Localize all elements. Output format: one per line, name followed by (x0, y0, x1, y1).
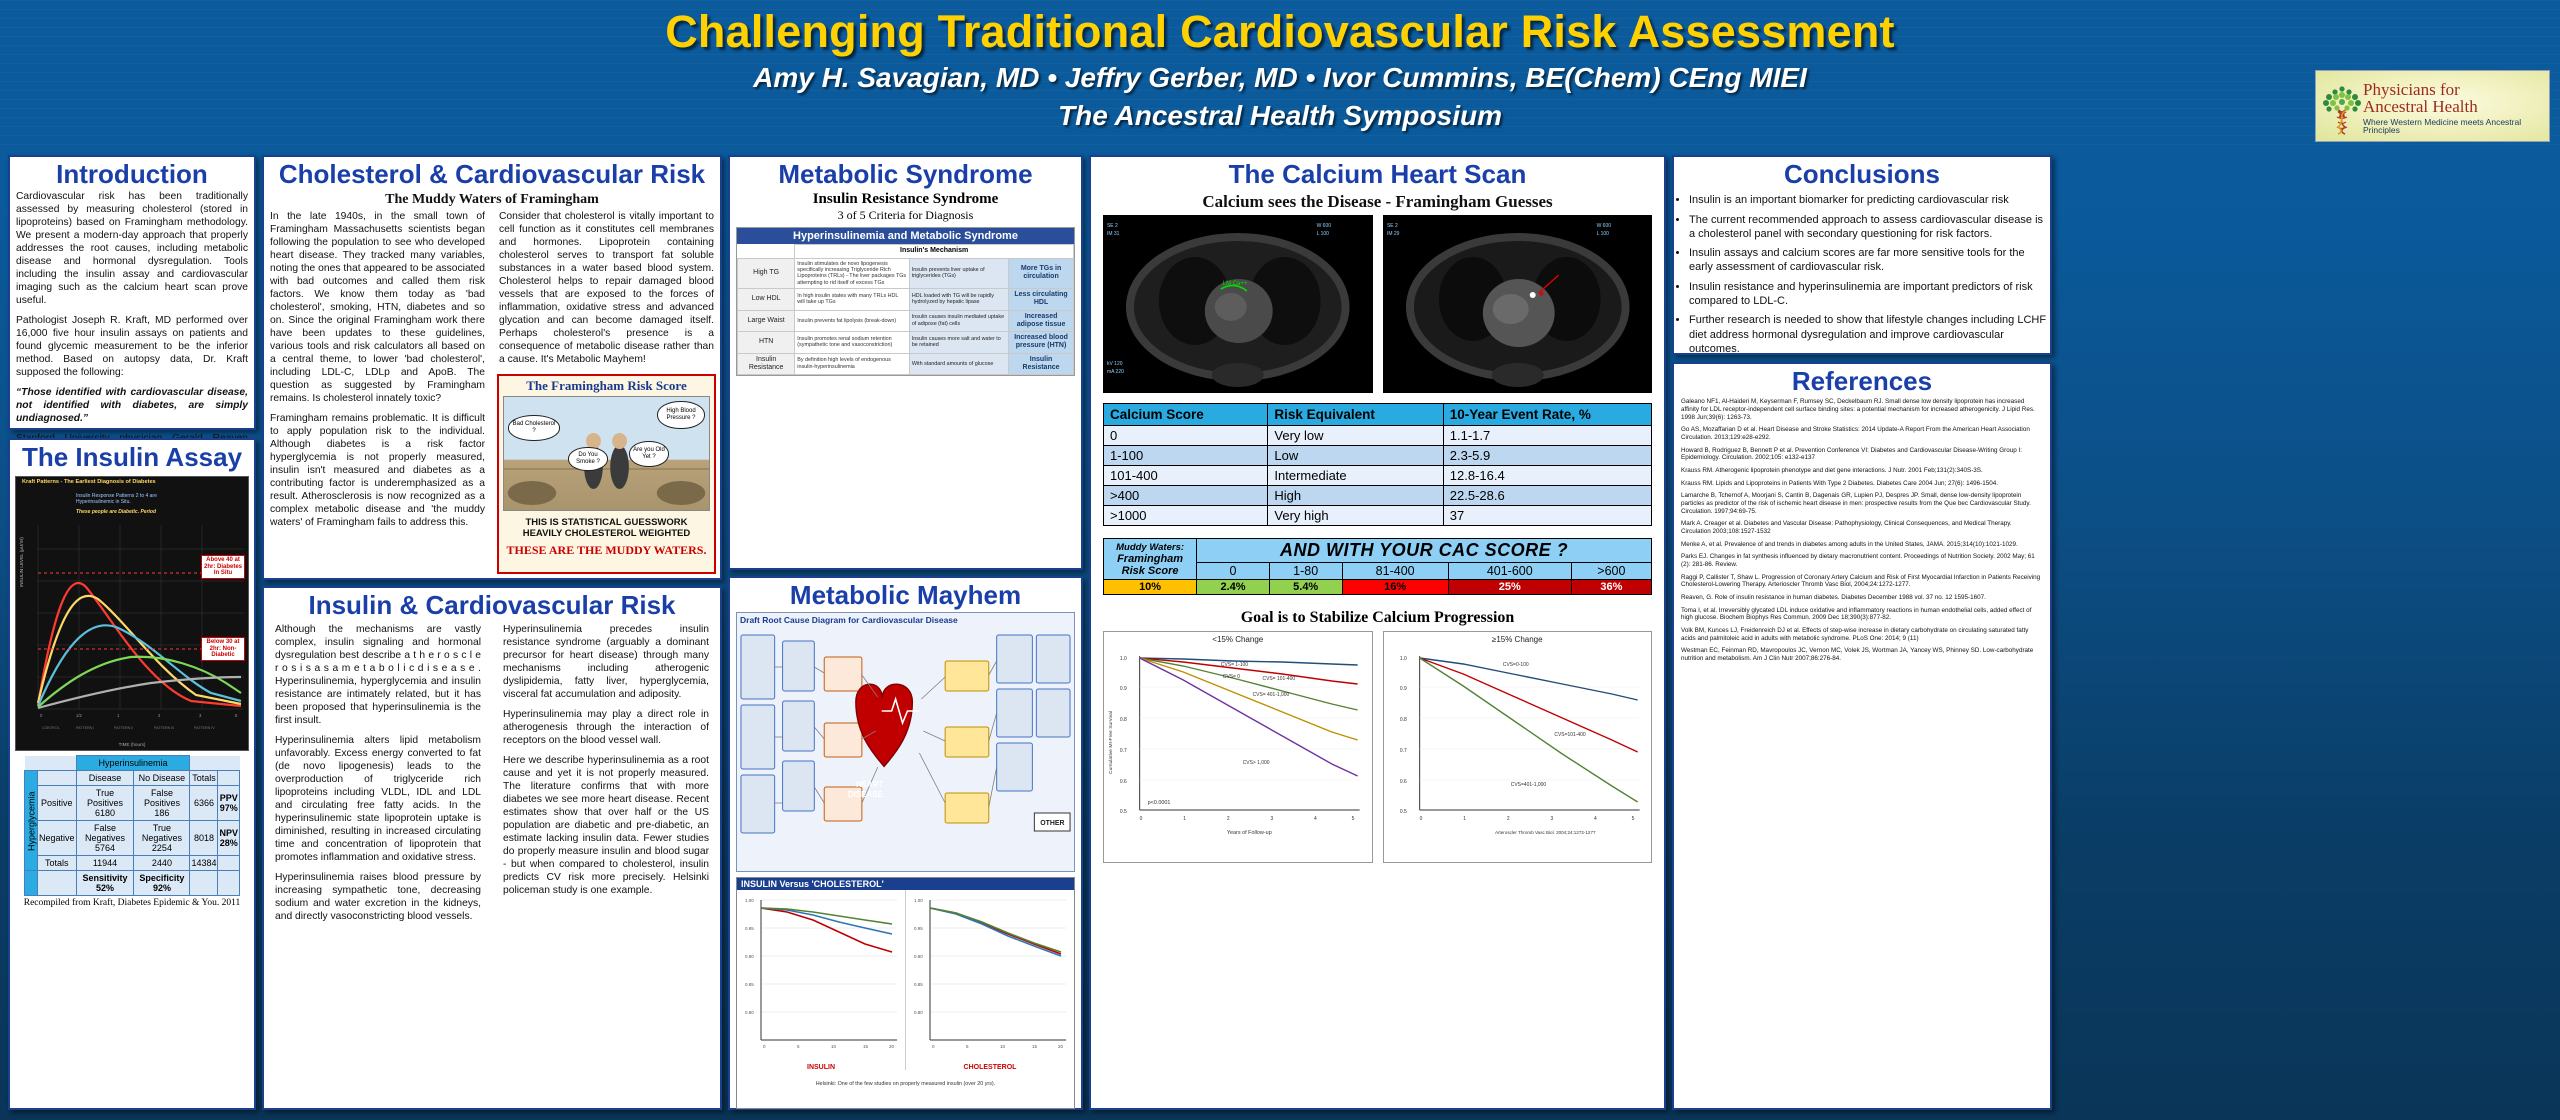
kraft-patterns-chart: Kraft Patterns - The Earliest Diagnosis … (15, 476, 249, 751)
root-cause-svg: OTHER HEART DISEASE (737, 627, 1074, 865)
svg-text:0: 0 (40, 713, 43, 718)
root-cause-caption: Draft Root Cause Diagram for Cardiovascu… (737, 613, 1074, 627)
total-negative: 8018 (190, 821, 218, 856)
svg-text:CVS= 101-400: CVS= 101-400 (1263, 676, 1296, 682)
ppv-label: PPV (220, 793, 238, 803)
svg-text:3: 3 (1550, 816, 1553, 822)
svg-text:15: 15 (1032, 1044, 1038, 1049)
row-mech-high-tg: Insulin stimulates de novo lipogenesis s… (795, 258, 910, 289)
total-disease: 11944 (76, 856, 134, 871)
table-row: >400High22.5-28.6 (1104, 486, 1652, 506)
list-item: Reaven, G. Role of insulin resistance in… (1681, 594, 2043, 602)
ct-scan-left: LM Ca++ SE 2IM 31 kV 120mA 220 W 600L 10… (1103, 215, 1373, 393)
svg-text:0.7: 0.7 (1399, 748, 1406, 754)
svg-text:CVS=0-100: CVS=0-100 (1502, 662, 1528, 668)
kraft-xlabel: TIME (hours) (119, 742, 146, 747)
intro-kraft-quote: “Those identified with cardiovascular di… (16, 387, 248, 426)
logo-line-1: Physicians for (2363, 81, 2544, 98)
svg-text:W 600: W 600 (1596, 223, 1611, 229)
list-item: Menke A, et al. Prevalence of and trends… (1681, 541, 2043, 549)
row-out-high-tg: More TGs in circulation (1009, 258, 1074, 289)
svg-text:OTHER: OTHER (1040, 820, 1064, 827)
svg-text:2: 2 (1227, 816, 1230, 822)
organization-logo: Physicians for Ancestral Health Where We… (2315, 70, 2550, 142)
calcium-subheading: Calcium sees the Disease - Framingham Gu… (1091, 191, 1664, 215)
row-label-insulin-resistance: Insulin Resistance (738, 353, 795, 375)
cac-band-2: 81-400 (1342, 563, 1448, 580)
svg-text:W 600: W 600 (1317, 223, 1332, 229)
chol-p3: Consider that cholesterol is vitally imp… (499, 211, 714, 367)
km-chart-right: ≥15% Change 1.00.90.8 0.70. (1383, 631, 1653, 863)
poster-board: Introduction Cardiovascular risk has bee… (0, 150, 2560, 1120)
cs-r0-c2: 1.1-1.7 (1443, 426, 1651, 446)
svg-text:CONTROL: CONTROL (42, 726, 60, 730)
insulin-assay-heading: The Insulin Assay (10, 440, 254, 474)
cs-r2-c1: Intermediate (1268, 466, 1443, 486)
svg-text:0.85: 0.85 (914, 982, 923, 987)
cholesterol-heading: Cholesterol & Cardiovascular Risk (264, 157, 720, 191)
row-label-large-waist: Large Waist (738, 310, 795, 332)
fn-label: False Negatives (85, 823, 125, 843)
th-totals: Totals (190, 771, 218, 786)
hyperinsulinemia-diagram: Hyperinsulinemia and Metabolic Syndrome … (736, 227, 1075, 376)
svg-text:10: 10 (831, 1044, 837, 1049)
cloud-high-blood-pressure: High Blood Pressure ? (657, 401, 705, 429)
insulincv-p3: Hyperinsulinemia raises blood pressure b… (275, 872, 481, 924)
svg-text:5: 5 (966, 1044, 969, 1049)
cac-rate-2: 16% (1342, 580, 1448, 595)
list-item: Raggi P, Callister T, Shaw L. Progressio… (1681, 574, 2043, 589)
references-heading: References (1674, 364, 2050, 398)
svg-text:0.8: 0.8 (1120, 717, 1127, 723)
row-group-header: Hyperglycemia (25, 771, 38, 871)
svg-text:0: 0 (932, 1044, 935, 1049)
table-row: Large Waist Insulin prevents fat lipolys… (738, 310, 1074, 332)
svg-text:Cumulative MI-Free Survival: Cumulative MI-Free Survival (1108, 711, 1114, 774)
svg-text:kV 120: kV 120 (1107, 361, 1123, 367)
intro-p2: Pathologist Joseph R. Kraft, MD performe… (16, 315, 248, 380)
svg-text:IM 29: IM 29 (1386, 231, 1399, 237)
logo-line-2: Ancestral Health (2363, 98, 2544, 115)
svg-text:0.95: 0.95 (914, 926, 923, 931)
insulin-assay-caption: Recompiled from Kraft, Diabetes Epidemic… (10, 896, 254, 910)
svg-text:0.5: 0.5 (1399, 809, 1406, 815)
svg-text:2: 2 (1506, 816, 1509, 822)
cac-rate-0: 2.4% (1197, 580, 1270, 595)
table-row: Positive True Positives6180 False Positi… (25, 786, 240, 821)
calcium-score-table-wrap: Calcium Score Risk Equivalent 10-Year Ev… (1091, 393, 1664, 526)
tp-value: 6180 (95, 808, 115, 818)
svg-text:20: 20 (889, 1044, 895, 1049)
row-mech-large-waist: Insulin prevents fat lipolysis (break-do… (795, 310, 910, 332)
svg-text:IM 31: IM 31 (1107, 231, 1120, 237)
row-mid-low-hdl: HDL loaded with TG will be rapidly hydro… (909, 289, 1008, 311)
row-label-htn: HTN (738, 332, 795, 354)
list-item: Lamarche B, Tchernof A, Moorjani S, Cant… (1681, 492, 2043, 515)
panel-metabolic-syndrome: Metabolic Syndrome Insulin Resistance Sy… (728, 155, 1083, 570)
svg-text:CVS= 1-100: CVS= 1-100 (1221, 662, 1248, 668)
sensitivity-value: 52% (96, 883, 114, 893)
cac-rate-3: 25% (1448, 580, 1571, 595)
svg-text:SE 2: SE 2 (1386, 223, 1397, 229)
row-mid-high-tg: Insulin prevents liver uptake of triglyc… (909, 258, 1008, 289)
row-out-low-hdl: Less circulating HDL (1009, 289, 1074, 311)
svg-text:3: 3 (199, 713, 202, 718)
row-mech-htn: Insulin promotes renal sodium retention … (795, 332, 910, 354)
row-mech-insulin-resistance: By definition high levels of endogenous … (795, 353, 910, 375)
ivc-chart-title: INSULIN Versus 'CHOLESTEROL' (737, 878, 1074, 890)
metabolic-mayhem-heading: Metabolic Mayhem (730, 578, 1081, 612)
svg-text:0: 0 (1419, 816, 1422, 822)
svg-text:PATTERN IV: PATTERN IV (194, 726, 215, 730)
col-group-header: Hyperinsulinemia (76, 756, 190, 771)
kraft-badge-nondiabetic: Below 30 at 2hr: Non-Diabetic (201, 637, 245, 661)
list-item: Insulin assays and calcium scores are fa… (1689, 246, 2050, 275)
svg-text:0.90: 0.90 (914, 954, 923, 959)
intro-p1: Cardiovascular risk has been traditional… (16, 191, 248, 308)
svg-text:1: 1 (1183, 816, 1186, 822)
cs-r1-c1: Low (1268, 446, 1443, 466)
ppv-value: 97% (220, 803, 238, 813)
table-row: 0Very low1.1-1.7 (1104, 426, 1652, 446)
svg-text:mA 220: mA 220 (1107, 369, 1124, 375)
calcium-heading: The Calcium Heart Scan (1091, 157, 1664, 191)
svg-text:2: 2 (158, 713, 161, 718)
cloud-smoking: Do You Smoke ? (568, 447, 608, 471)
km-chart-left: <15% Change 1.0 (1103, 631, 1373, 863)
svg-text:1/2: 1/2 (76, 713, 82, 718)
table-row: HTN Insulin promotes renal sodium retent… (738, 332, 1074, 354)
list-item: Krauss RM. Lipids and Lipoproteins in Pa… (1681, 480, 2043, 488)
tn-label: True Negatives (142, 823, 182, 843)
npv-value: 28% (220, 838, 238, 848)
cac-band-0: 0 (1197, 563, 1270, 580)
svg-text:0.9: 0.9 (1399, 686, 1406, 692)
table-row: 1-100Low2.3-5.9 (1104, 446, 1652, 466)
svg-text:5: 5 (797, 1044, 800, 1049)
insulincv-p2: Hyperinsulinemia alters lipid metabolism… (275, 735, 481, 865)
table-row: Low HDL In high insulin states with many… (738, 289, 1074, 311)
cac-score-table-wrap: Muddy Waters: Framingham Risk Score AND … (1091, 526, 1664, 595)
cs-r3-c2: 22.5-28.6 (1443, 486, 1651, 506)
svg-text:Arteroscler Thromb Vasc Biol.: Arteroscler Thromb Vasc Biol. 2004;24:12… (1494, 830, 1595, 835)
list-item: Volk BM, Kunces LJ, Freidenreich DJ et a… (1681, 627, 2043, 642)
table-row: Totals 11944 2440 14384 (25, 856, 240, 871)
list-item: Mark A. Creager et al. Diabetes and Vasc… (1681, 520, 2043, 535)
svg-text:HEART: HEART (856, 780, 883, 789)
cac-frs-value: 10% (1104, 580, 1197, 595)
table-row: Negative False Negatives5764 True Negati… (25, 821, 240, 856)
metabolic-syndrome-criteria: 3 of 5 Criteria for Diagnosis (730, 208, 1081, 223)
svg-text:1: 1 (1463, 816, 1466, 822)
svg-text:1.00: 1.00 (914, 898, 923, 903)
svg-text:CVS=101-400: CVS=101-400 (1554, 732, 1585, 738)
row-out-insulin-resistance: Insulin Resistance (1009, 353, 1074, 375)
svg-text:1.0: 1.0 (1399, 656, 1406, 662)
svg-text:1.0: 1.0 (1120, 656, 1127, 662)
framingham-risk-score-figure: The Framingham Risk Score (497, 374, 716, 574)
chol-p2: Framingham remains problematic. It is di… (270, 413, 485, 530)
svg-text:0.80: 0.80 (745, 1010, 754, 1015)
list-item: Insulin resistance and hyperinsulinemia … (1689, 280, 2050, 309)
svg-text:0.90: 0.90 (745, 954, 754, 959)
svg-text:0.85: 0.85 (745, 982, 754, 987)
diagram-title: Hyperinsulinemia and Metabolic Syndrome (737, 228, 1074, 244)
svg-text:PATTERN III: PATTERN III (154, 726, 174, 730)
cac-band-1: 1-80 (1269, 563, 1342, 580)
panel-conclusions: Conclusions Insulin is an important biom… (1672, 155, 2052, 355)
cs-r0-c1: Very low (1268, 426, 1443, 446)
mechanism-header: Insulin's Mechanism (795, 245, 1074, 258)
cs-th-rate: 10-Year Event Rate, % (1443, 404, 1651, 426)
symposium-name: The Ancestral Health Symposium (0, 100, 2560, 132)
total-no-disease: 2440 (134, 856, 190, 871)
poster-header: Challenging Traditional Cardiovascular R… (0, 0, 2560, 150)
cholesterol-subheading: The Muddy Waters of Framingham (264, 191, 720, 211)
svg-text:3: 3 (1270, 816, 1273, 822)
table-row: 101-400Intermediate12.8-16.4 (1104, 466, 1652, 486)
svg-text:DISEASE: DISEASE (848, 790, 883, 799)
cs-r2-c2: 12.8-16.4 (1443, 466, 1651, 486)
conclusions-heading: Conclusions (1674, 157, 2050, 191)
svg-text:L 100: L 100 (1317, 231, 1330, 237)
svg-text:PATTERN II: PATTERN II (114, 726, 133, 730)
sensitivity-label: Sensitivity (82, 873, 127, 883)
specificity-label: Specificity (139, 873, 184, 883)
row-mid-large-waist: Insulin causes insulin mediated uptake o… (909, 310, 1008, 332)
svg-text:0.5: 0.5 (1120, 809, 1127, 815)
cholesterol-panel: 1.000.950.90 0.850.80 0510 1520 CHOLESTE… (906, 890, 1074, 1070)
table-row: Insulin Resistance By definition high le… (738, 353, 1074, 375)
row-out-htn: Increased blood pressure (HTN) (1009, 332, 1074, 354)
cac-title: AND WITH YOUR CAC SCORE ? (1197, 539, 1652, 563)
row-label-high-tg: High TG (738, 258, 795, 289)
panel-introduction: Introduction Cardiovascular risk has bee… (8, 155, 256, 430)
cs-r0-c0: 0 (1104, 426, 1268, 446)
panel-references: References Galeano NF1, Al-Haideri M, Ke… (1672, 362, 2052, 1110)
cs-r2-c0: 101-400 (1104, 466, 1268, 486)
cac-band-3: 401-600 (1448, 563, 1571, 580)
fp-value: 186 (154, 808, 169, 818)
page-title: Challenging Traditional Cardiovascular R… (0, 6, 2560, 58)
svg-text:0: 0 (763, 1044, 766, 1049)
insulin-panel-label: INSULIN (737, 1064, 905, 1071)
cloud-age: Are you Old Yet ? (629, 441, 669, 467)
cac-score-table: Muddy Waters: Framingham Risk Score AND … (1103, 538, 1652, 595)
row-mech-low-hdl: In high insulin states with many TRLs HD… (795, 289, 910, 311)
list-item: Toma I, et al. Irreversibly glycated LDL… (1681, 607, 2043, 622)
fn-value: 5764 (95, 843, 115, 853)
ivc-footnote: Helsinki: One of the few studies on prop… (737, 1070, 1074, 1087)
list-item: Krauss RM. Atherogenic lipoprotein pheno… (1681, 467, 2043, 475)
table-header-row: Calcium Score Risk Equivalent 10-Year Ev… (1104, 404, 1652, 426)
svg-text:1: 1 (117, 713, 120, 718)
cs-r4-c0: >1000 (1104, 506, 1268, 526)
cac-rate-4: 36% (1571, 580, 1651, 595)
cac-rate-1: 5.4% (1269, 580, 1342, 595)
svg-text:0.95: 0.95 (745, 926, 754, 931)
svg-text:10: 10 (1000, 1044, 1006, 1049)
list-item: Parks EJ. Changes in fat synthesis influ… (1681, 553, 2043, 568)
insulin-vs-cholesterol-chart: INSULIN Versus 'CHOLESTEROL' (736, 877, 1075, 1109)
references-list: Galeano NF1, Al-Haideri M, Keyserman F, … (1674, 398, 2050, 662)
row-out-large-waist: Increased adipose tissue (1009, 310, 1074, 332)
insulin-cv-heading: Insulin & Cardiovascular Risk (264, 588, 720, 622)
framingham-line-2: HEAVILY CHOLESTEROL WEIGHTED (499, 528, 714, 539)
svg-text:4: 4 (1594, 816, 1597, 822)
svg-text:5: 5 (235, 713, 238, 718)
insulin-panel: 1.000.950.90 0.850.80 0510 1520 INSULIN (737, 890, 906, 1070)
introduction-heading: Introduction (10, 157, 254, 191)
svg-text:0.6: 0.6 (1120, 779, 1127, 785)
tree-dna-icon (2321, 84, 2363, 132)
kraft-badge-diabetic: Above 40 at 2hr: Diabetes In Situ (201, 555, 245, 579)
grand-total: 14384 (190, 856, 218, 871)
svg-text:PATTERN I: PATTERN I (76, 726, 94, 730)
panel-insulin-assay: The Insulin Assay Kraft Patterns - The E… (8, 438, 256, 1110)
svg-text:20: 20 (1058, 1044, 1064, 1049)
list-item: Galeano NF1, Al-Haideri M, Keyserman F, … (1681, 398, 2043, 421)
insulincv-p1: Although the mechanisms are vastly compl… (275, 624, 481, 728)
svg-text:LM Ca++: LM Ca++ (1223, 281, 1248, 287)
cs-r1-c2: 2.3-5.9 (1443, 446, 1651, 466)
svg-text:1.00: 1.00 (745, 898, 754, 903)
svg-text:5: 5 (1631, 816, 1634, 822)
calcium-goal-text: Goal is to Stabilize Calcium Progression (1091, 595, 1664, 631)
svg-text:CVS> 1,000: CVS> 1,000 (1243, 760, 1270, 766)
cs-r3-c1: High (1268, 486, 1443, 506)
insulincv-p6: Here we describe hyperinsulinemia as a r… (503, 755, 709, 898)
svg-text:0.6: 0.6 (1399, 779, 1406, 785)
svg-text:0.7: 0.7 (1120, 748, 1127, 754)
specificity-value: 92% (153, 883, 171, 893)
row-mid-htn: Insulin causes more salt and water to be… (909, 332, 1008, 354)
cac-corner-label: Muddy Waters: Framingham Risk Score (1104, 539, 1197, 580)
svg-text:p<0.0001: p<0.0001 (1148, 800, 1171, 806)
row-mid-insulin-resistance: With standard amounts of glucose (909, 353, 1008, 375)
km-right-title: ≥15% Change (1384, 632, 1652, 644)
table-row: Muddy Waters: Framingham Risk Score AND … (1104, 539, 1652, 563)
table-row: High TG Insulin stimulates de novo lipog… (738, 258, 1074, 289)
svg-text:15: 15 (863, 1044, 869, 1049)
cs-r3-c0: >400 (1104, 486, 1268, 506)
svg-text:SE 2: SE 2 (1107, 223, 1118, 229)
list-item: Go AS, Mozaffarian D et al. Heart Diseas… (1681, 426, 2043, 441)
poster-root: Challenging Traditional Cardiovascular R… (0, 0, 2560, 1120)
author-list: Amy H. Savagian, MD • Jeffry Gerber, MD … (0, 62, 2560, 94)
framingham-line-3: THESE ARE THE MUDDY WATERS. (499, 543, 714, 558)
th-disease: Disease (76, 771, 134, 786)
framingham-line-1: THIS IS STATISTICAL GUESSWORK (499, 517, 714, 528)
svg-text:0.80: 0.80 (914, 1010, 923, 1015)
cs-r4-c1: Very high (1268, 506, 1443, 526)
list-item: Howard B, Rodriguez B, Bennett P et al. … (1681, 447, 2043, 462)
chol-p1: In the late 1940s, in the small town of … (270, 211, 485, 406)
insulin-2x2-table: Hyperinsulinemia Hyperglycemia Disease N… (24, 755, 240, 896)
cs-r1-c0: 1-100 (1104, 446, 1268, 466)
logo-tagline: Where Western Medicine meets Ancestral P… (2363, 118, 2544, 135)
cs-th-score: Calcium Score (1104, 404, 1268, 426)
svg-text:CVS= 0: CVS= 0 (1223, 674, 1240, 680)
table-row: 10% 2.4% 5.4% 16% 25% 36% (1104, 580, 1652, 595)
tp-label: True Positives (87, 788, 123, 808)
npv-label: NPV (219, 828, 238, 838)
row-label-low-hdl: Low HDL (738, 289, 795, 311)
framingham-figure-title: The Framingham Risk Score (499, 376, 714, 396)
metabolic-syndrome-heading: Metabolic Syndrome (730, 157, 1081, 191)
total-positive: 6366 (190, 786, 218, 821)
metabolic-syndrome-subheading: Insulin Resistance Syndrome (730, 191, 1081, 208)
list-item: Westman EC, Feinman RD, Mavropoulos JC, … (1681, 647, 2043, 662)
th-no-disease: No Disease (134, 771, 190, 786)
panel-metabolic-mayhem: Metabolic Mayhem Draft Root Cause Diagra… (728, 576, 1083, 1110)
svg-text:0.9: 0.9 (1120, 686, 1127, 692)
svg-text:CVS=401-1,000: CVS=401-1,000 (1510, 782, 1546, 788)
svg-text:Years of Follow-up: Years of Follow-up (1227, 830, 1272, 836)
list-item: Insulin is an important biomarker for pr… (1689, 193, 2050, 207)
svg-text:L 100: L 100 (1596, 231, 1609, 237)
panel-insulin-cv-risk: Insulin & Cardiovascular Risk Although t… (262, 586, 722, 1110)
cac-band-4: >600 (1571, 563, 1651, 580)
ct-scan-right: SE 2IM 29 W 600L 100 (1383, 215, 1653, 393)
insulincv-p5: Hyperinsulinemia may play a direct role … (503, 709, 709, 748)
panel-cholesterol: Cholesterol & Cardiovascular Risk The Mu… (262, 155, 722, 580)
calcium-score-table: Calcium Score Risk Equivalent 10-Year Ev… (1103, 403, 1652, 526)
svg-text:5: 5 (1352, 816, 1355, 822)
km-left-title: <15% Change (1104, 632, 1372, 644)
list-item: Further research is needed to show that … (1689, 313, 2050, 356)
mechanism-table: Insulin's Mechanism High TG Insulin stim… (737, 244, 1074, 375)
cloud-bad-cholesterol: Bad Cholesterol ? (508, 415, 560, 441)
insulincv-p4: Hyperinsulinemia precedes insulin resist… (503, 624, 709, 702)
svg-text:CVS= 401-1,000: CVS= 401-1,000 (1253, 692, 1290, 698)
conclusions-list: Insulin is an important biomarker for pr… (1674, 193, 2050, 356)
table-row: >1000Very high37 (1104, 506, 1652, 526)
list-item: The current recommended approach to asse… (1689, 213, 2050, 242)
table-row: Sensitivity52% Specificity92% (25, 871, 240, 896)
svg-text:0: 0 (1140, 816, 1143, 822)
cholesterol-panel-label: CHOLESTEROL (906, 1064, 1074, 1071)
svg-text:4: 4 (1314, 816, 1317, 822)
svg-text:0.8: 0.8 (1399, 717, 1406, 723)
panel-calcium-heart-scan: The Calcium Heart Scan Calcium sees the … (1089, 155, 1666, 1110)
tn-value: 2254 (152, 843, 172, 853)
root-cause-diagram: Draft Root Cause Diagram for Cardiovascu… (736, 612, 1075, 872)
fp-label: False Positives (144, 788, 180, 808)
cs-r4-c2: 37 (1443, 506, 1651, 526)
insulin-2x2-table-wrap: Hyperinsulinemia Hyperglycemia Disease N… (24, 755, 240, 896)
cs-th-risk: Risk Equivalent (1268, 404, 1443, 426)
